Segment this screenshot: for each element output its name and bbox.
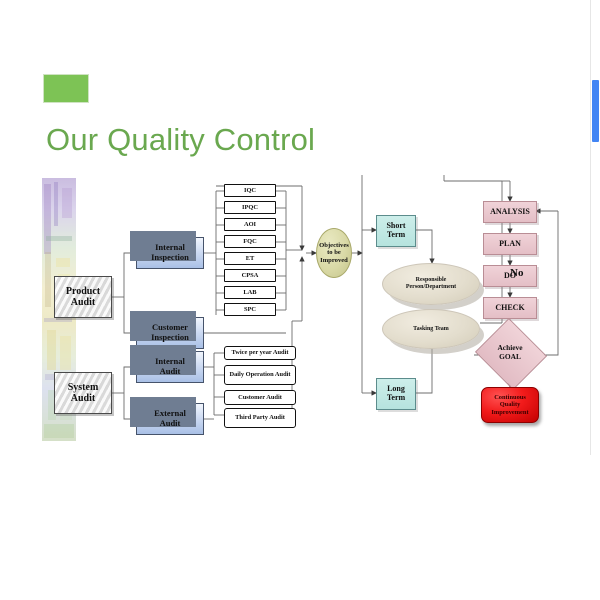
node-plan[interactable]: PLAN [483,233,537,255]
item-lab[interactable]: LAB [224,286,276,299]
item-twice-per-year-audit[interactable]: Twice per year Audit [224,346,296,360]
decision-no-label: No [510,267,523,279]
node-continuous-quality-improvement[interactable]: ContinuousQualityImprovement [481,387,539,423]
item-label: ET [246,255,255,262]
node-label: ExternalAudit [154,409,186,428]
node-internal-audit[interactable]: InternalAudit [136,351,204,383]
item-fqc[interactable]: FQC [224,235,276,248]
item-label: IPQC [242,204,258,211]
item-label: Third Party Audit [235,414,285,421]
item-customer-audit[interactable]: Customer Audit [224,390,296,405]
scrollbar-thumb[interactable] [592,80,599,142]
node-internal-inspection[interactable]: InternalInspection [136,237,204,269]
node-objectives-to-be-improved[interactable]: Objectivesto beImproved [316,228,352,278]
item-label: Customer Audit [238,394,282,401]
node-label: Objectivesto beImproved [319,242,349,264]
node-check[interactable]: CHECK [483,297,537,319]
page-title: Our Quality Control [46,122,506,164]
node-label: ANALYSIS [490,208,530,217]
node-tasking-team[interactable]: Tasking Team [382,309,480,349]
node-label: CHECK [495,304,524,313]
node-system-audit[interactable]: SystemAudit [54,372,112,414]
slide-canvas: Our Quality Control [0,0,600,600]
node-product-audit[interactable]: ProductAudit [54,276,112,318]
node-label: ProductAudit [66,286,100,308]
item-spc[interactable]: SPC [224,303,276,316]
node-label: AchieveGOAL [484,330,536,376]
node-label: ShortTerm [386,222,405,240]
item-aoi[interactable]: AOI [224,218,276,231]
item-et[interactable]: ET [224,252,276,265]
node-label: InternalInspection [151,243,189,262]
node-short-term[interactable]: ShortTerm [376,215,416,247]
quality-control-flow-diagram: ProductAudit SystemAudit InternalInspect… [40,175,560,445]
node-label: Tasking Team [413,326,449,333]
node-label: ResponsiblePerson/Department [406,277,456,290]
node-label: LongTerm [387,385,405,403]
item-label: IQC [244,187,256,194]
node-long-term[interactable]: LongTerm [376,378,416,410]
node-analysis[interactable]: ANALYSIS [483,201,537,223]
item-label: Twice per year Audit [232,349,289,356]
item-label: CPSA [242,272,259,279]
node-external-audit[interactable]: ExternalAudit [136,403,204,435]
item-cpsa[interactable]: CPSA [224,269,276,282]
item-third-party-audit[interactable]: Third Party Audit [224,408,296,428]
item-label: FQC [243,238,257,245]
item-label: AOI [244,221,256,228]
item-label: SPC [244,306,256,313]
item-iqc[interactable]: IQC [224,184,276,197]
node-label: PLAN [499,240,521,249]
node-label: CustomerInspection [151,323,189,342]
accent-square-decoration [43,74,89,103]
item-label: LAB [243,289,256,296]
node-label: ContinuousQualityImprovement [491,394,528,416]
node-label: InternalAudit [155,357,185,376]
node-responsible-person-department[interactable]: ResponsiblePerson/Department [382,263,480,305]
item-label: Daily Operation Audit [229,371,290,378]
item-daily-operation-audit[interactable]: Daily Operation Audit [224,365,296,385]
vertical-scrollbar[interactable] [591,0,600,600]
item-ipqc[interactable]: IPQC [224,201,276,214]
node-achieve-goal-decision[interactable]: AchieveGOAL [484,330,536,376]
node-label: SystemAudit [68,382,99,404]
